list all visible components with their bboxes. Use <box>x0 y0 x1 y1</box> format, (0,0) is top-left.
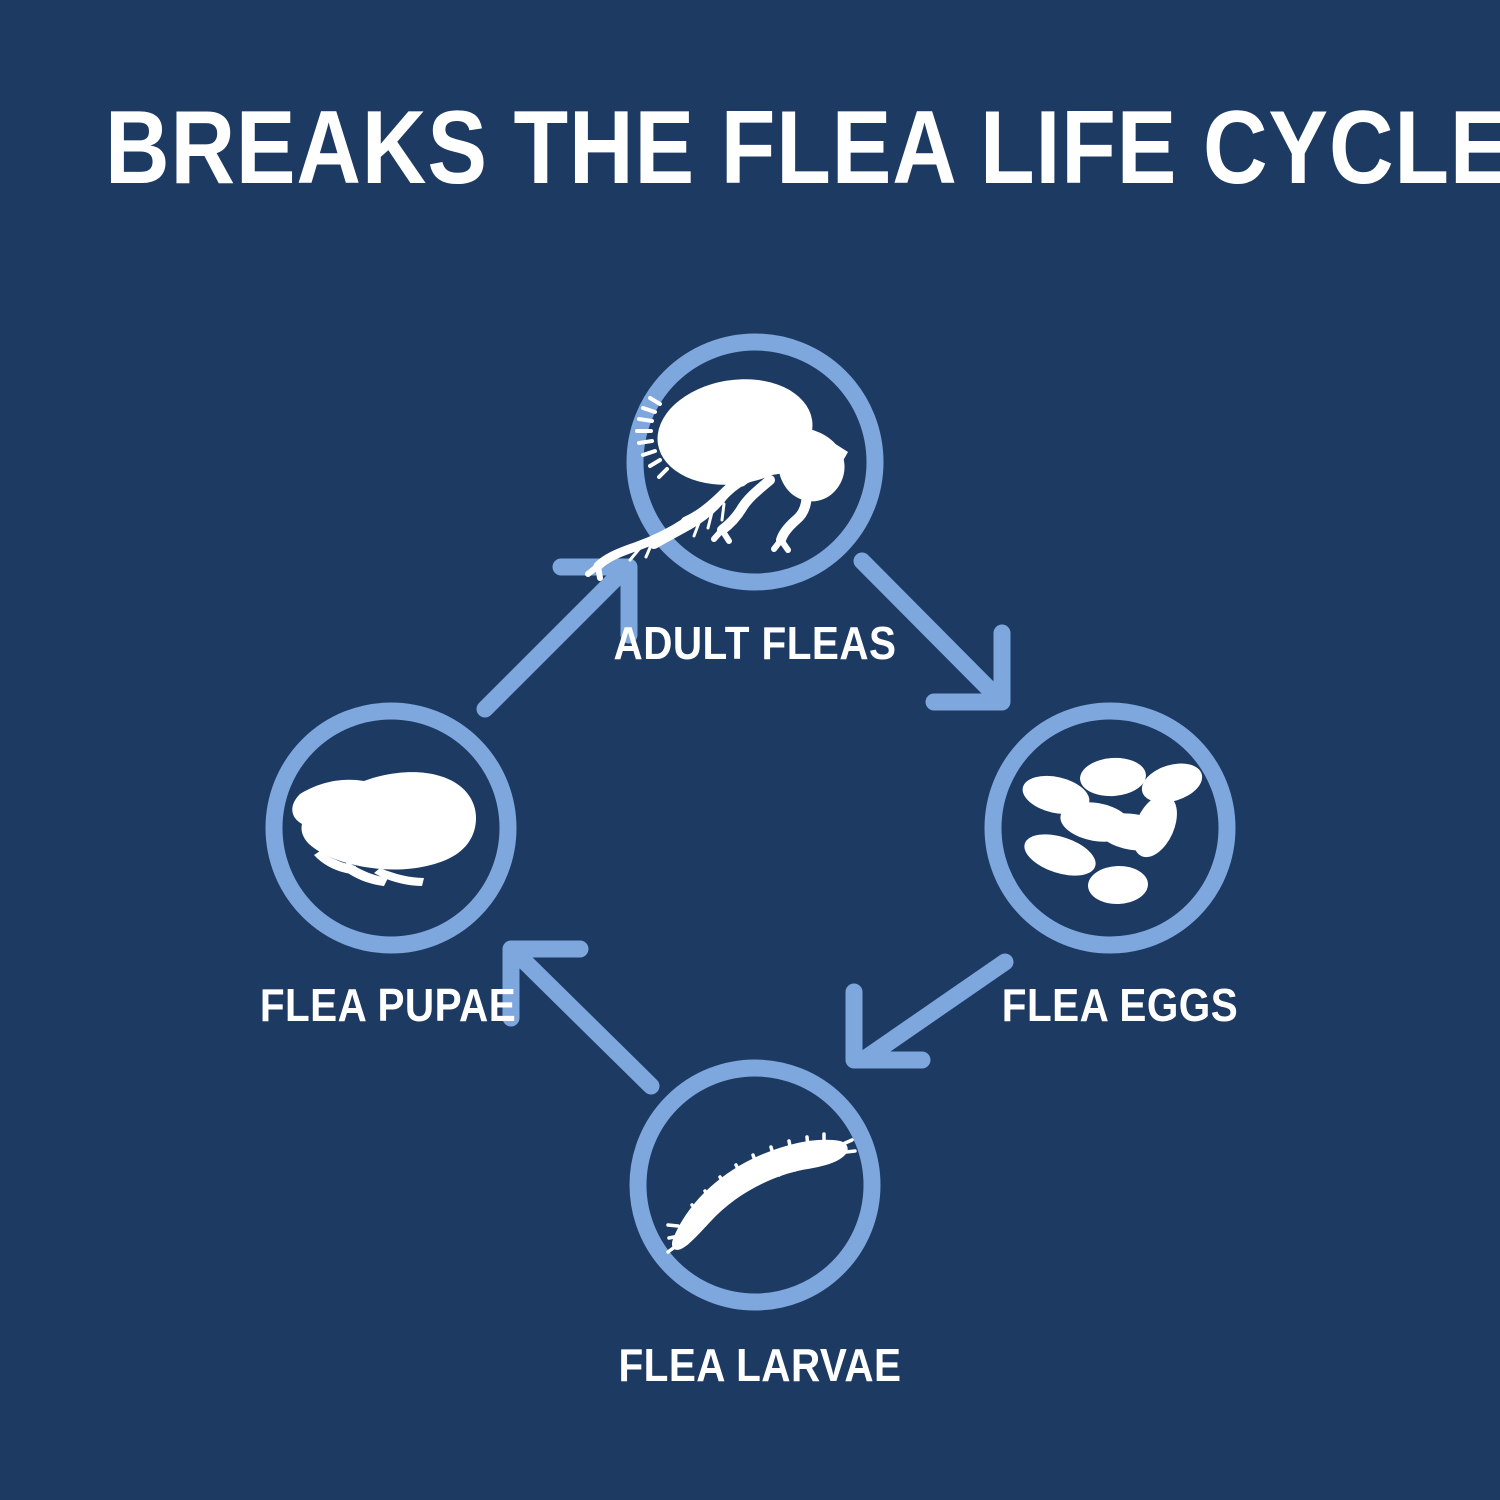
node-label-flea-larvae: FLEA LARVAE <box>584 1338 936 1392</box>
node-flea-pupae[interactable] <box>274 711 508 945</box>
flea-life-cycle-infographic: BREAKS THE FLEA LIFE CYCLE <box>0 0 1500 1500</box>
node-flea-eggs[interactable] <box>993 711 1227 945</box>
node-label-flea-eggs: FLEA EGGS <box>944 978 1296 1032</box>
flea-life-cycle-diagram <box>0 0 1500 1500</box>
node-label-adult-fleas: ADULT FLEAS <box>579 616 931 670</box>
flea-larva-silhouette-icon <box>668 1134 855 1252</box>
node-adult-fleas[interactable] <box>588 342 875 582</box>
node-label-flea-pupae: FLEA PUPAE <box>212 978 564 1032</box>
node-flea-larvae[interactable] <box>638 1068 872 1302</box>
flea-pupa-silhouette-icon <box>292 772 476 886</box>
flea-eggs-silhouette-icon <box>1019 756 1207 905</box>
